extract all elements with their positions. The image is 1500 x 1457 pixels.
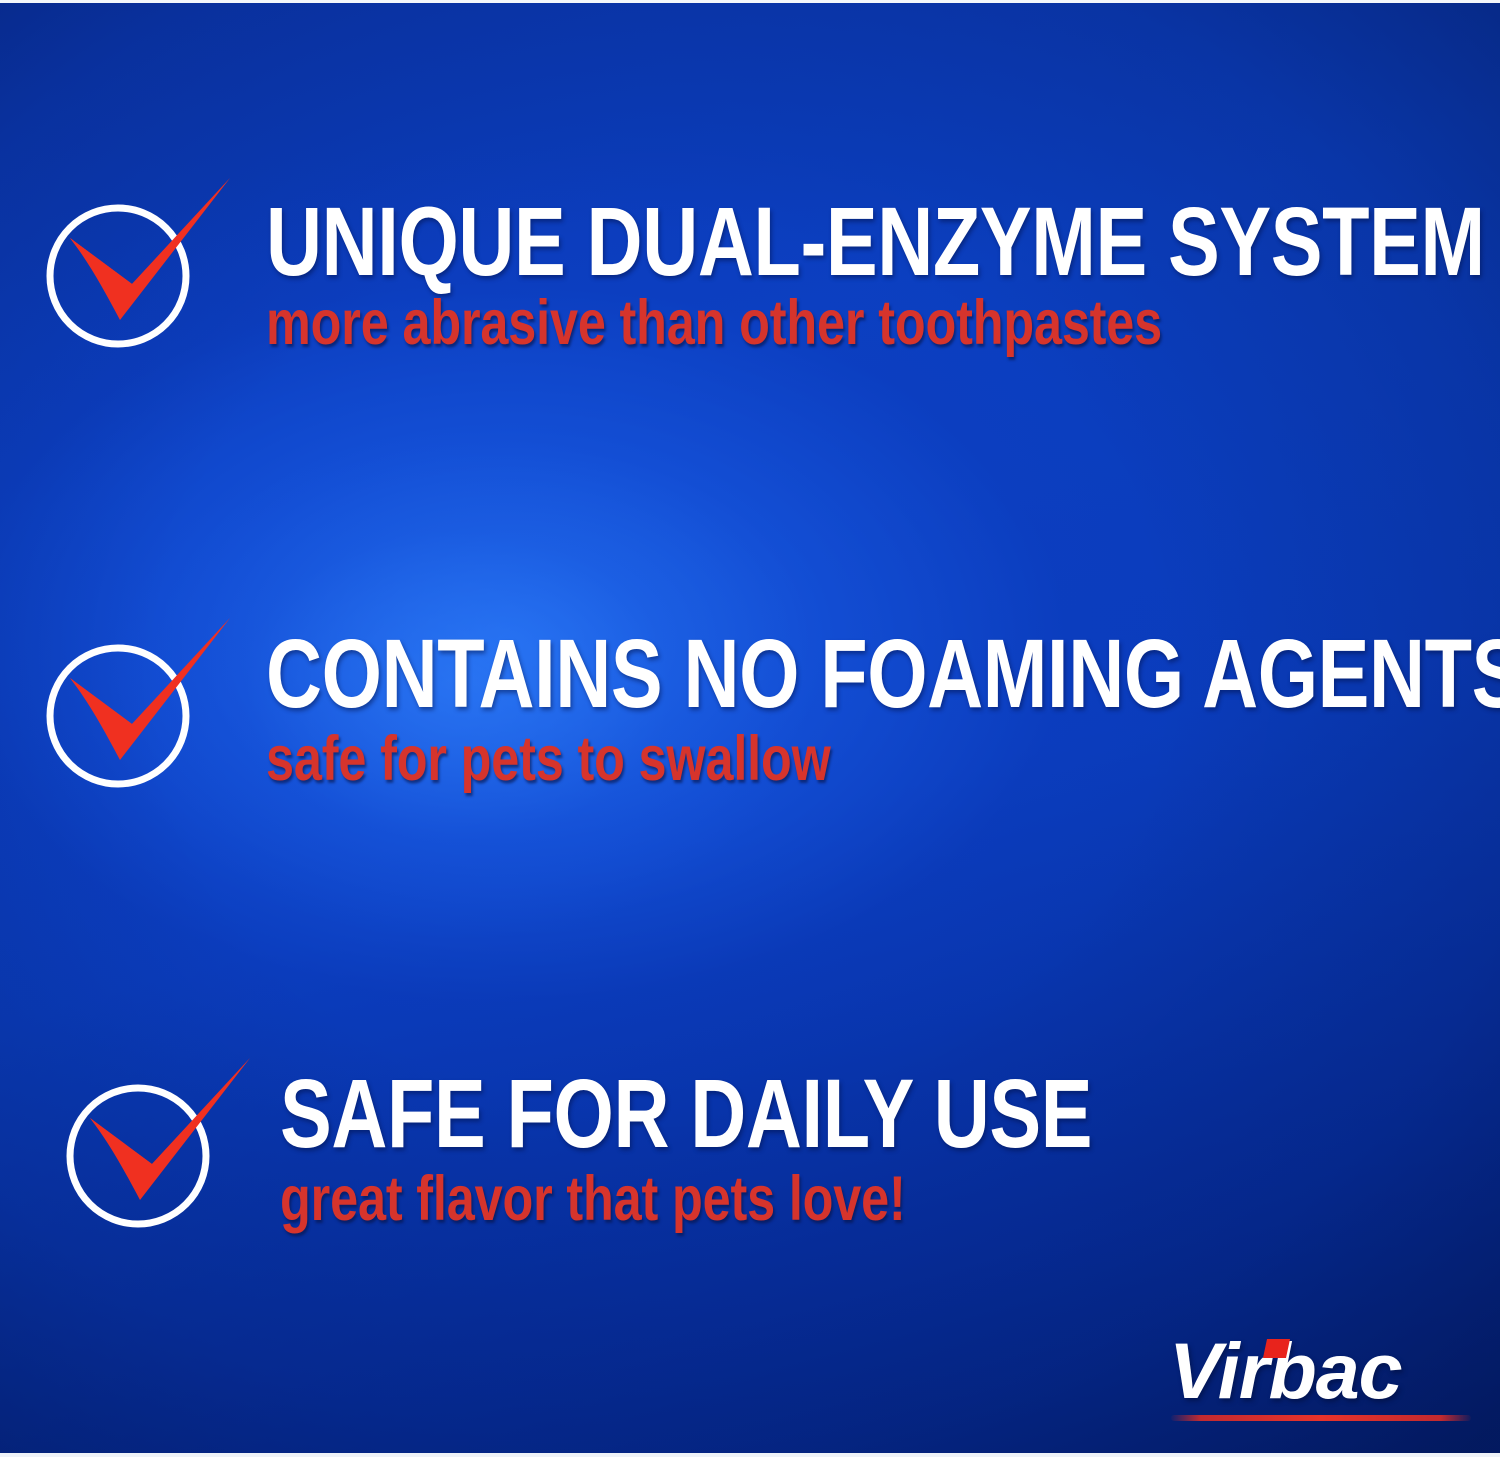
product-feature-banner: UNIQUE DUAL-ENZYME SYSTEM more abrasive … (0, 0, 1500, 1457)
feature-headline: CONTAINS NO FOAMING AGENTS (266, 628, 1500, 720)
feature-subline: safe for pets to swallow (266, 730, 831, 790)
virbac-logo: Virbac (1163, 1331, 1475, 1423)
feature-headline: SAFE FOR DAILY USE (280, 1068, 1092, 1160)
feature-subline: great flavor that pets love! (280, 1170, 906, 1230)
feature-subline: more abrasive than other toothpastes (266, 294, 1162, 354)
checkmark-circle-icon (58, 1052, 258, 1242)
top-edge-strip (0, 0, 1500, 3)
virbac-logo-i-dot (1263, 1339, 1290, 1358)
feature-headline: UNIQUE DUAL-ENZYME SYSTEM (266, 196, 1485, 288)
checkmark-circle-icon (38, 612, 238, 802)
bottom-edge-strip (0, 1453, 1500, 1457)
virbac-logo-underline (1171, 1415, 1471, 1421)
checkmark-circle-icon (38, 172, 238, 362)
